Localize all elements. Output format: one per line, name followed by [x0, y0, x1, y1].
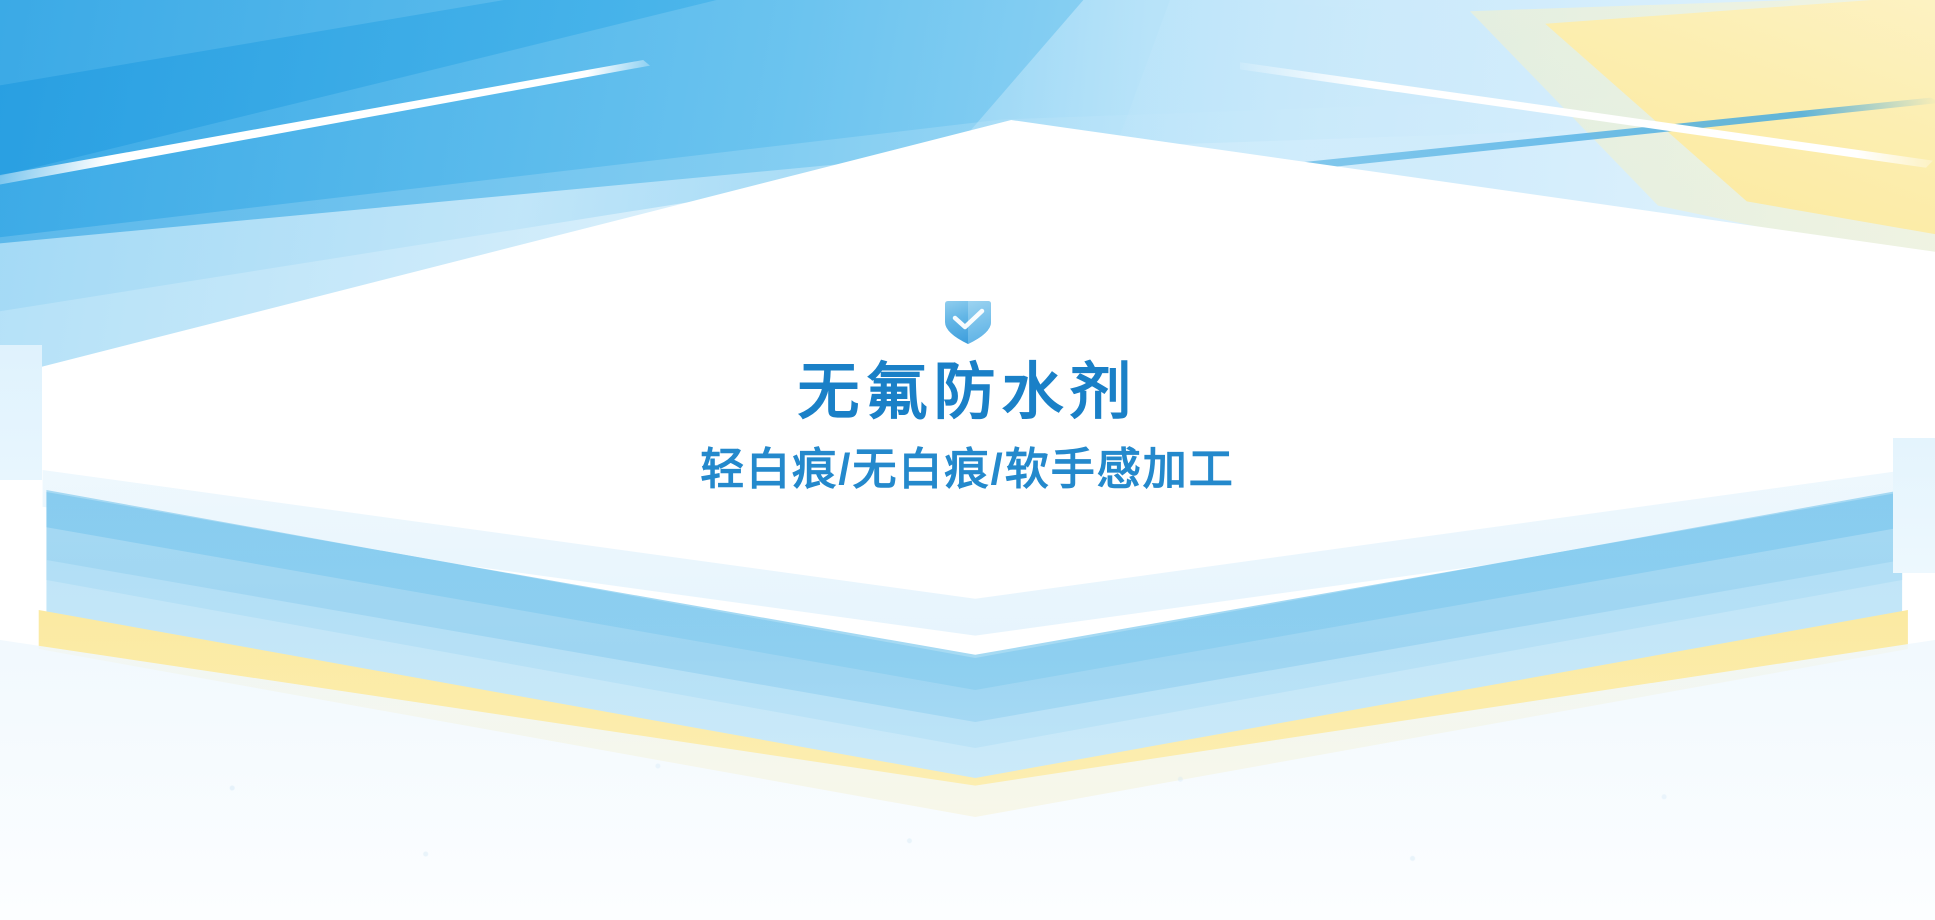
banner-content: 无氟防水剂 轻白痕/无白痕/软手感加工: [0, 0, 1935, 920]
shield-check-icon: [942, 300, 994, 346]
page-title: 无氟防水剂: [797, 362, 1137, 424]
page-subtitle: 轻白痕/无白痕/软手感加工: [700, 448, 1234, 492]
product-feature-banner: 无氟防水剂 轻白痕/无白痕/软手感加工: [0, 0, 1935, 920]
